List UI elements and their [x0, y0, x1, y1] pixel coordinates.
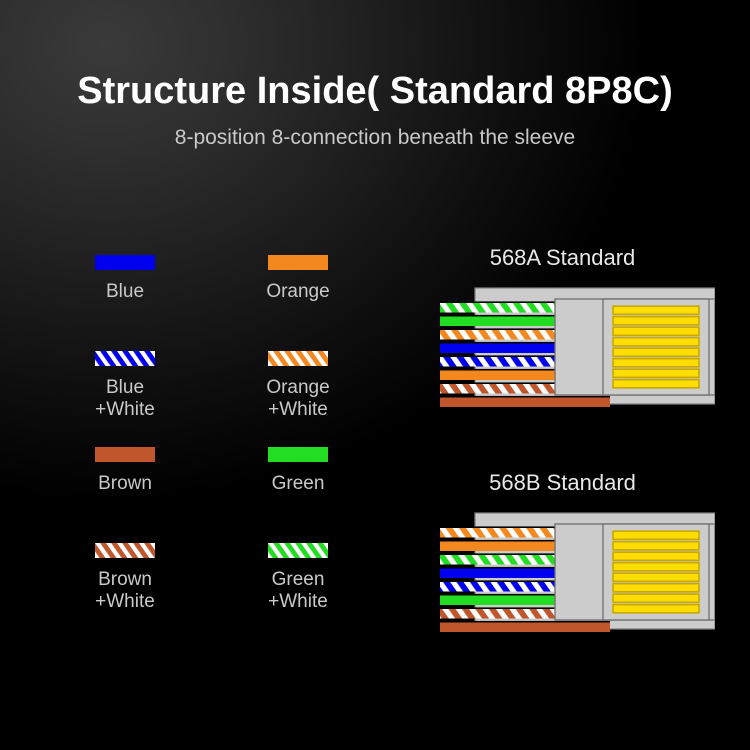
legend-item-green-white: Green +White — [233, 543, 363, 639]
legend-label-green: Green — [233, 473, 363, 495]
legend-item-green: Green — [233, 447, 363, 543]
connector-block-568b: 568B Standard — [440, 470, 730, 632]
legend-swatch-orange — [268, 255, 328, 270]
legend-swatch-green — [268, 447, 328, 462]
rj45-connector-568a — [440, 285, 715, 407]
wire-568a-pin8 — [440, 398, 610, 408]
contact-pin-568b-5 — [613, 573, 699, 581]
legend-item-brown: Brown — [60, 447, 190, 543]
legend-item-orange: Orange — [233, 255, 363, 351]
contact-pin-568a-6 — [613, 359, 699, 367]
contact-pin-568a-7 — [613, 369, 699, 377]
contact-pin-568a-1 — [613, 306, 699, 314]
contact-pin-568b-4 — [613, 563, 699, 571]
legend-label-orange: Orange — [233, 281, 363, 303]
legend-item-brown-white: Brown +White — [60, 543, 190, 639]
legend-label-blue: Blue — [60, 281, 190, 303]
legend-item-blue: Blue — [60, 255, 190, 351]
connector-block-568a: 568A Standard — [440, 245, 730, 407]
legend-swatch-orange-white — [268, 351, 328, 366]
page-subtitle: 8-position 8-connection beneath the slee… — [0, 114, 750, 150]
legend-swatch-brown-white — [95, 543, 155, 558]
legend-swatch-blue — [95, 255, 155, 270]
connector-diagram-568b — [440, 510, 715, 632]
contact-pin-568a-8 — [613, 380, 699, 388]
legend-label-blue-white: Blue +White — [60, 377, 190, 422]
page-title: Structure Inside( Standard 8P8C) — [0, 0, 750, 114]
contact-pin-568b-3 — [613, 552, 699, 560]
rj45-connector-568b — [440, 510, 715, 632]
contact-pin-568a-4 — [613, 338, 699, 346]
legend-swatch-blue-white — [95, 351, 155, 366]
contact-pin-568b-6 — [613, 584, 699, 592]
contact-pin-568a-3 — [613, 327, 699, 335]
legend-item-orange-white: Orange +White — [233, 351, 363, 447]
contact-pin-568b-2 — [613, 542, 699, 550]
contact-pin-568b-1 — [613, 531, 699, 539]
connector-title-568a: 568A Standard — [440, 245, 685, 271]
legend-item-blue-white: Blue +White — [60, 351, 190, 447]
wire-color-legend: BlueOrangeBlue +WhiteOrange +WhiteBrownG… — [60, 255, 380, 639]
legend-swatch-green-white — [268, 543, 328, 558]
contact-pin-568b-7 — [613, 594, 699, 602]
contact-pin-568b-8 — [613, 605, 699, 613]
header: Structure Inside( Standard 8P8C) 8-posit… — [0, 0, 750, 150]
contact-pin-568a-2 — [613, 317, 699, 325]
connector-diagram-568a — [440, 285, 715, 407]
legend-swatch-brown — [95, 447, 155, 462]
poster-canvas: Structure Inside( Standard 8P8C) 8-posit… — [0, 0, 750, 750]
legend-label-orange-white: Orange +White — [233, 377, 363, 422]
legend-label-brown: Brown — [60, 473, 190, 495]
wire-568b-pin8 — [440, 623, 610, 633]
legend-label-green-white: Green +White — [233, 569, 363, 614]
legend-label-brown-white: Brown +White — [60, 569, 190, 614]
contact-pin-568a-5 — [613, 348, 699, 356]
connector-title-568b: 568B Standard — [440, 470, 685, 496]
